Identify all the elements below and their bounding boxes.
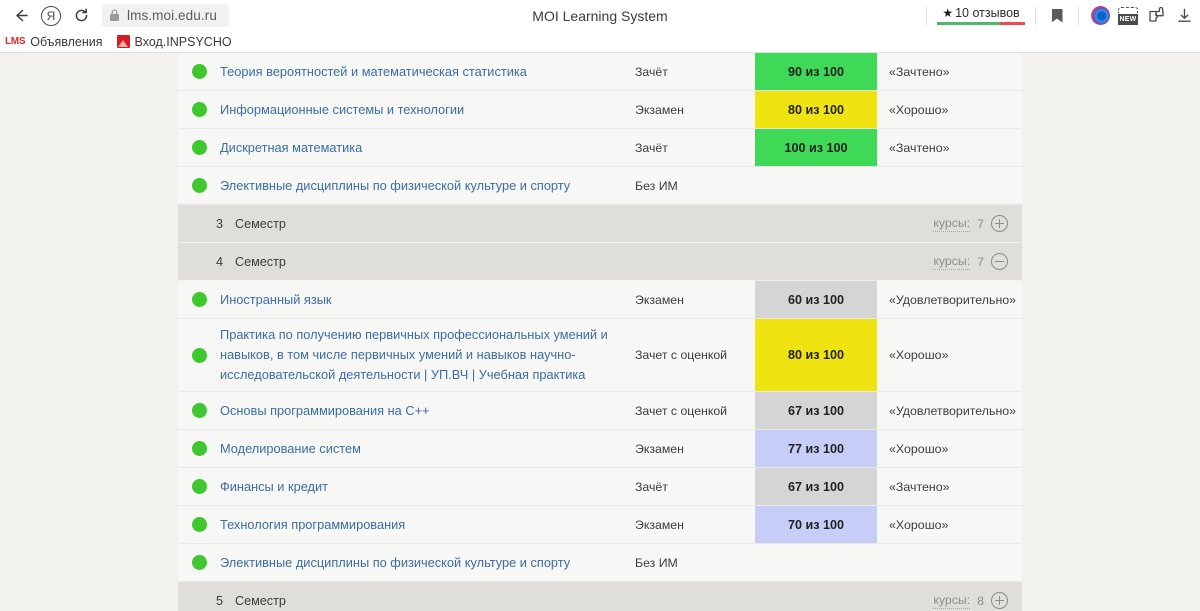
course-link[interactable]: Иностранный язык [220, 290, 621, 309]
result-cell: «Удовлетворительно» [877, 404, 1022, 418]
result-cell: «Зачтено» [877, 141, 1022, 155]
status-indicator [178, 348, 220, 363]
yandex-logo-icon[interactable]: Я [36, 1, 66, 31]
score-cell: 90 из 100 [755, 53, 877, 90]
assessment-type-cell: Зачет с оценкой [635, 404, 755, 418]
course-link[interactable]: Дискретная математика [220, 138, 621, 157]
site-rating-badge[interactable]: ★ 10 отзывов [934, 6, 1028, 25]
assessment-type-cell: Зачёт [635, 141, 755, 155]
status-indicator [178, 140, 220, 155]
assessment-type-cell: Экзамен [635, 442, 755, 456]
semester-meta: курсы:7 [933, 215, 1008, 232]
course-link[interactable]: Элективные дисциплины по физической куль… [220, 553, 621, 572]
status-indicator [178, 441, 220, 456]
score-cell: 70 из 100 [755, 506, 877, 543]
assessment-type-cell: Зачет с оценкой [635, 348, 755, 362]
green-status-dot-icon [192, 292, 207, 307]
bookmark-item-announcements[interactable]: LMS Объявления [5, 35, 103, 49]
bookmark-item-inpsycho[interactable]: Вход.INPSYCHO [117, 35, 232, 49]
course-name-cell[interactable]: Элективные дисциплины по физической куль… [220, 176, 635, 195]
status-indicator [178, 292, 220, 307]
status-indicator [178, 403, 220, 418]
score-cell: 67 из 100 [755, 468, 877, 505]
semester-label: Семестр [235, 217, 286, 231]
courses-label: курсы: [933, 254, 970, 270]
status-indicator [178, 555, 220, 570]
green-status-dot-icon [192, 403, 207, 418]
green-status-dot-icon [192, 348, 207, 363]
courses-count: 8 [977, 594, 984, 608]
new-badge-icon[interactable]: NEW [1114, 2, 1142, 30]
expand-plus-icon[interactable] [991, 215, 1008, 232]
courses-count: 7 [977, 217, 984, 231]
semester-label: Семестр [235, 594, 286, 608]
semester-number: 5 [216, 594, 223, 608]
course-name-cell[interactable]: Дискретная математика [220, 138, 635, 157]
course-name-cell[interactable]: Основы программирования на C++ [220, 401, 635, 420]
result-cell: «Хорошо» [877, 518, 1022, 532]
table-row[interactable]: Практика по получению первичных професси… [178, 319, 1022, 392]
result-cell: «Хорошо» [877, 103, 1022, 117]
assessment-type-cell: Экзамен [635, 103, 755, 117]
semester-number: 3 [216, 217, 223, 231]
score-cell: 80 из 100 [755, 319, 877, 391]
semester-meta: курсы:7 [933, 253, 1008, 270]
course-link[interactable]: Теория вероятностей и математическая ста… [220, 62, 621, 81]
course-name-cell[interactable]: Практика по получению первичных професси… [220, 319, 635, 391]
score-cell [755, 544, 877, 581]
grades-table: Теория вероятностей и математическая ста… [178, 53, 1022, 611]
page-content: Теория вероятностей и математическая ста… [0, 53, 1200, 611]
course-name-cell[interactable]: Финансы и кредит [220, 477, 635, 496]
green-status-dot-icon [192, 555, 207, 570]
courses-count: 7 [977, 255, 984, 269]
green-status-dot-icon [192, 517, 207, 532]
toolbar-divider [1078, 7, 1079, 25]
course-link[interactable]: Информационные системы и технологии [220, 100, 621, 119]
course-name-cell[interactable]: Технология программирования [220, 515, 635, 534]
table-row[interactable]: Элективные дисциплины по физической куль… [178, 544, 1022, 582]
collapse-minus-icon[interactable] [991, 253, 1008, 270]
course-link[interactable]: Основы программирования на C++ [220, 401, 621, 420]
semester-header-row[interactable]: 5Семестркурсы:8 [178, 582, 1022, 611]
expand-plus-icon[interactable] [991, 592, 1008, 609]
course-name-cell[interactable]: Элективные дисциплины по физической куль… [220, 553, 635, 572]
table-row[interactable]: Иностранный языкЭкзамен60 из 100«Удовлет… [178, 281, 1022, 319]
score-cell: 77 из 100 [755, 430, 877, 467]
download-icon[interactable] [1170, 2, 1198, 30]
bookmarks-bar: LMS Объявления Вход.INPSYCHO [0, 31, 1200, 53]
bookmark-icon[interactable] [1043, 2, 1071, 30]
colored-orb-icon[interactable] [1086, 2, 1114, 30]
course-link[interactable]: Финансы и кредит [220, 477, 621, 496]
course-link[interactable]: Технология программирования [220, 515, 621, 534]
result-cell: «Зачтено» [877, 480, 1022, 494]
assessment-type-cell: Зачёт [635, 480, 755, 494]
result-cell: «Хорошо» [877, 442, 1022, 456]
score-cell: 80 из 100 [755, 91, 877, 128]
table-row[interactable]: Финансы и кредитЗачёт67 из 100«Зачтено» [178, 468, 1022, 506]
green-status-dot-icon [192, 64, 207, 79]
semester-number: 4 [216, 255, 223, 269]
table-row[interactable]: Технология программированияЭкзамен70 из … [178, 506, 1022, 544]
status-indicator [178, 64, 220, 79]
semester-header-row[interactable]: 3Семестркурсы:7 [178, 205, 1022, 243]
course-link[interactable]: Практика по получению первичных професси… [220, 325, 621, 385]
course-name-cell[interactable]: Теория вероятностей и математическая ста… [220, 62, 635, 81]
score-cell: 60 из 100 [755, 281, 877, 318]
result-cell: «Зачтено» [877, 65, 1022, 79]
semester-meta: курсы:8 [933, 592, 1008, 609]
assessment-type-cell: Зачёт [635, 65, 755, 79]
status-indicator [178, 178, 220, 193]
status-indicator [178, 479, 220, 494]
status-indicator [178, 517, 220, 532]
toolbar-divider [926, 7, 927, 25]
result-cell: «Хорошо» [877, 348, 1022, 362]
green-status-dot-icon [192, 140, 207, 155]
course-name-cell[interactable]: Иностранный язык [220, 290, 635, 309]
table-row[interactable]: Информационные системы и технологииЭкзам… [178, 91, 1022, 129]
lms-logo-icon: LMS [5, 36, 25, 47]
result-cell: «Удовлетворительно» [877, 293, 1022, 307]
browser-toolbar: Я lms.moi.edu.ru ★ 10 отзывов NEW [0, 0, 1200, 31]
assessment-type-cell: Экзамен [635, 518, 755, 532]
address-bar-url: lms.moi.edu.ru [127, 8, 217, 23]
semester-label: Семестр [235, 255, 286, 269]
course-link[interactable]: Моделирование систем [220, 439, 621, 458]
green-status-dot-icon [192, 102, 207, 117]
back-arrow-icon[interactable] [6, 1, 36, 31]
courses-label: курсы: [933, 216, 970, 232]
courses-label: курсы: [933, 593, 970, 609]
toolbar-right-actions: ★ 10 отзывов NEW [919, 0, 1200, 31]
extensions-puzzle-icon[interactable] [1142, 2, 1170, 30]
reload-icon[interactable] [66, 1, 96, 31]
bookmark-label: Объявления [30, 35, 102, 49]
star-icon: ★ [942, 6, 953, 20]
bookmark-label: Вход.INPSYCHO [135, 35, 232, 49]
table-row[interactable]: Элективные дисциплины по физической куль… [178, 167, 1022, 205]
table-row[interactable]: Дискретная математикаЗачёт100 из 100«Зач… [178, 129, 1022, 167]
address-bar[interactable]: lms.moi.edu.ru [102, 4, 229, 27]
score-cell: 100 из 100 [755, 129, 877, 166]
table-row[interactable]: Основы программирования на C++Зачет с оц… [178, 392, 1022, 430]
toolbar-divider [1035, 7, 1036, 25]
rating-bar [937, 22, 1025, 25]
assessment-type-cell: Экзамен [635, 293, 755, 307]
score-cell: 67 из 100 [755, 392, 877, 429]
lock-icon [109, 9, 120, 22]
score-cell [755, 167, 877, 204]
course-name-cell[interactable]: Информационные системы и технологии [220, 100, 635, 119]
green-status-dot-icon [192, 479, 207, 494]
course-name-cell[interactable]: Моделирование систем [220, 439, 635, 458]
table-row[interactable]: Моделирование системЭкзамен77 из 100«Хор… [178, 430, 1022, 468]
inpsycho-favicon [117, 35, 130, 48]
new-badge-label: NEW [1118, 14, 1138, 25]
green-status-dot-icon [192, 441, 207, 456]
semester-header-row[interactable]: 4Семестркурсы:7 [178, 243, 1022, 281]
green-status-dot-icon [192, 178, 207, 193]
table-row[interactable]: Теория вероятностей и математическая ста… [178, 53, 1022, 91]
status-indicator [178, 102, 220, 117]
assessment-type-cell: Без ИМ [635, 556, 755, 570]
course-link[interactable]: Элективные дисциплины по физической куль… [220, 176, 621, 195]
rating-label: 10 отзывов [955, 6, 1020, 20]
assessment-type-cell: Без ИМ [635, 179, 755, 193]
